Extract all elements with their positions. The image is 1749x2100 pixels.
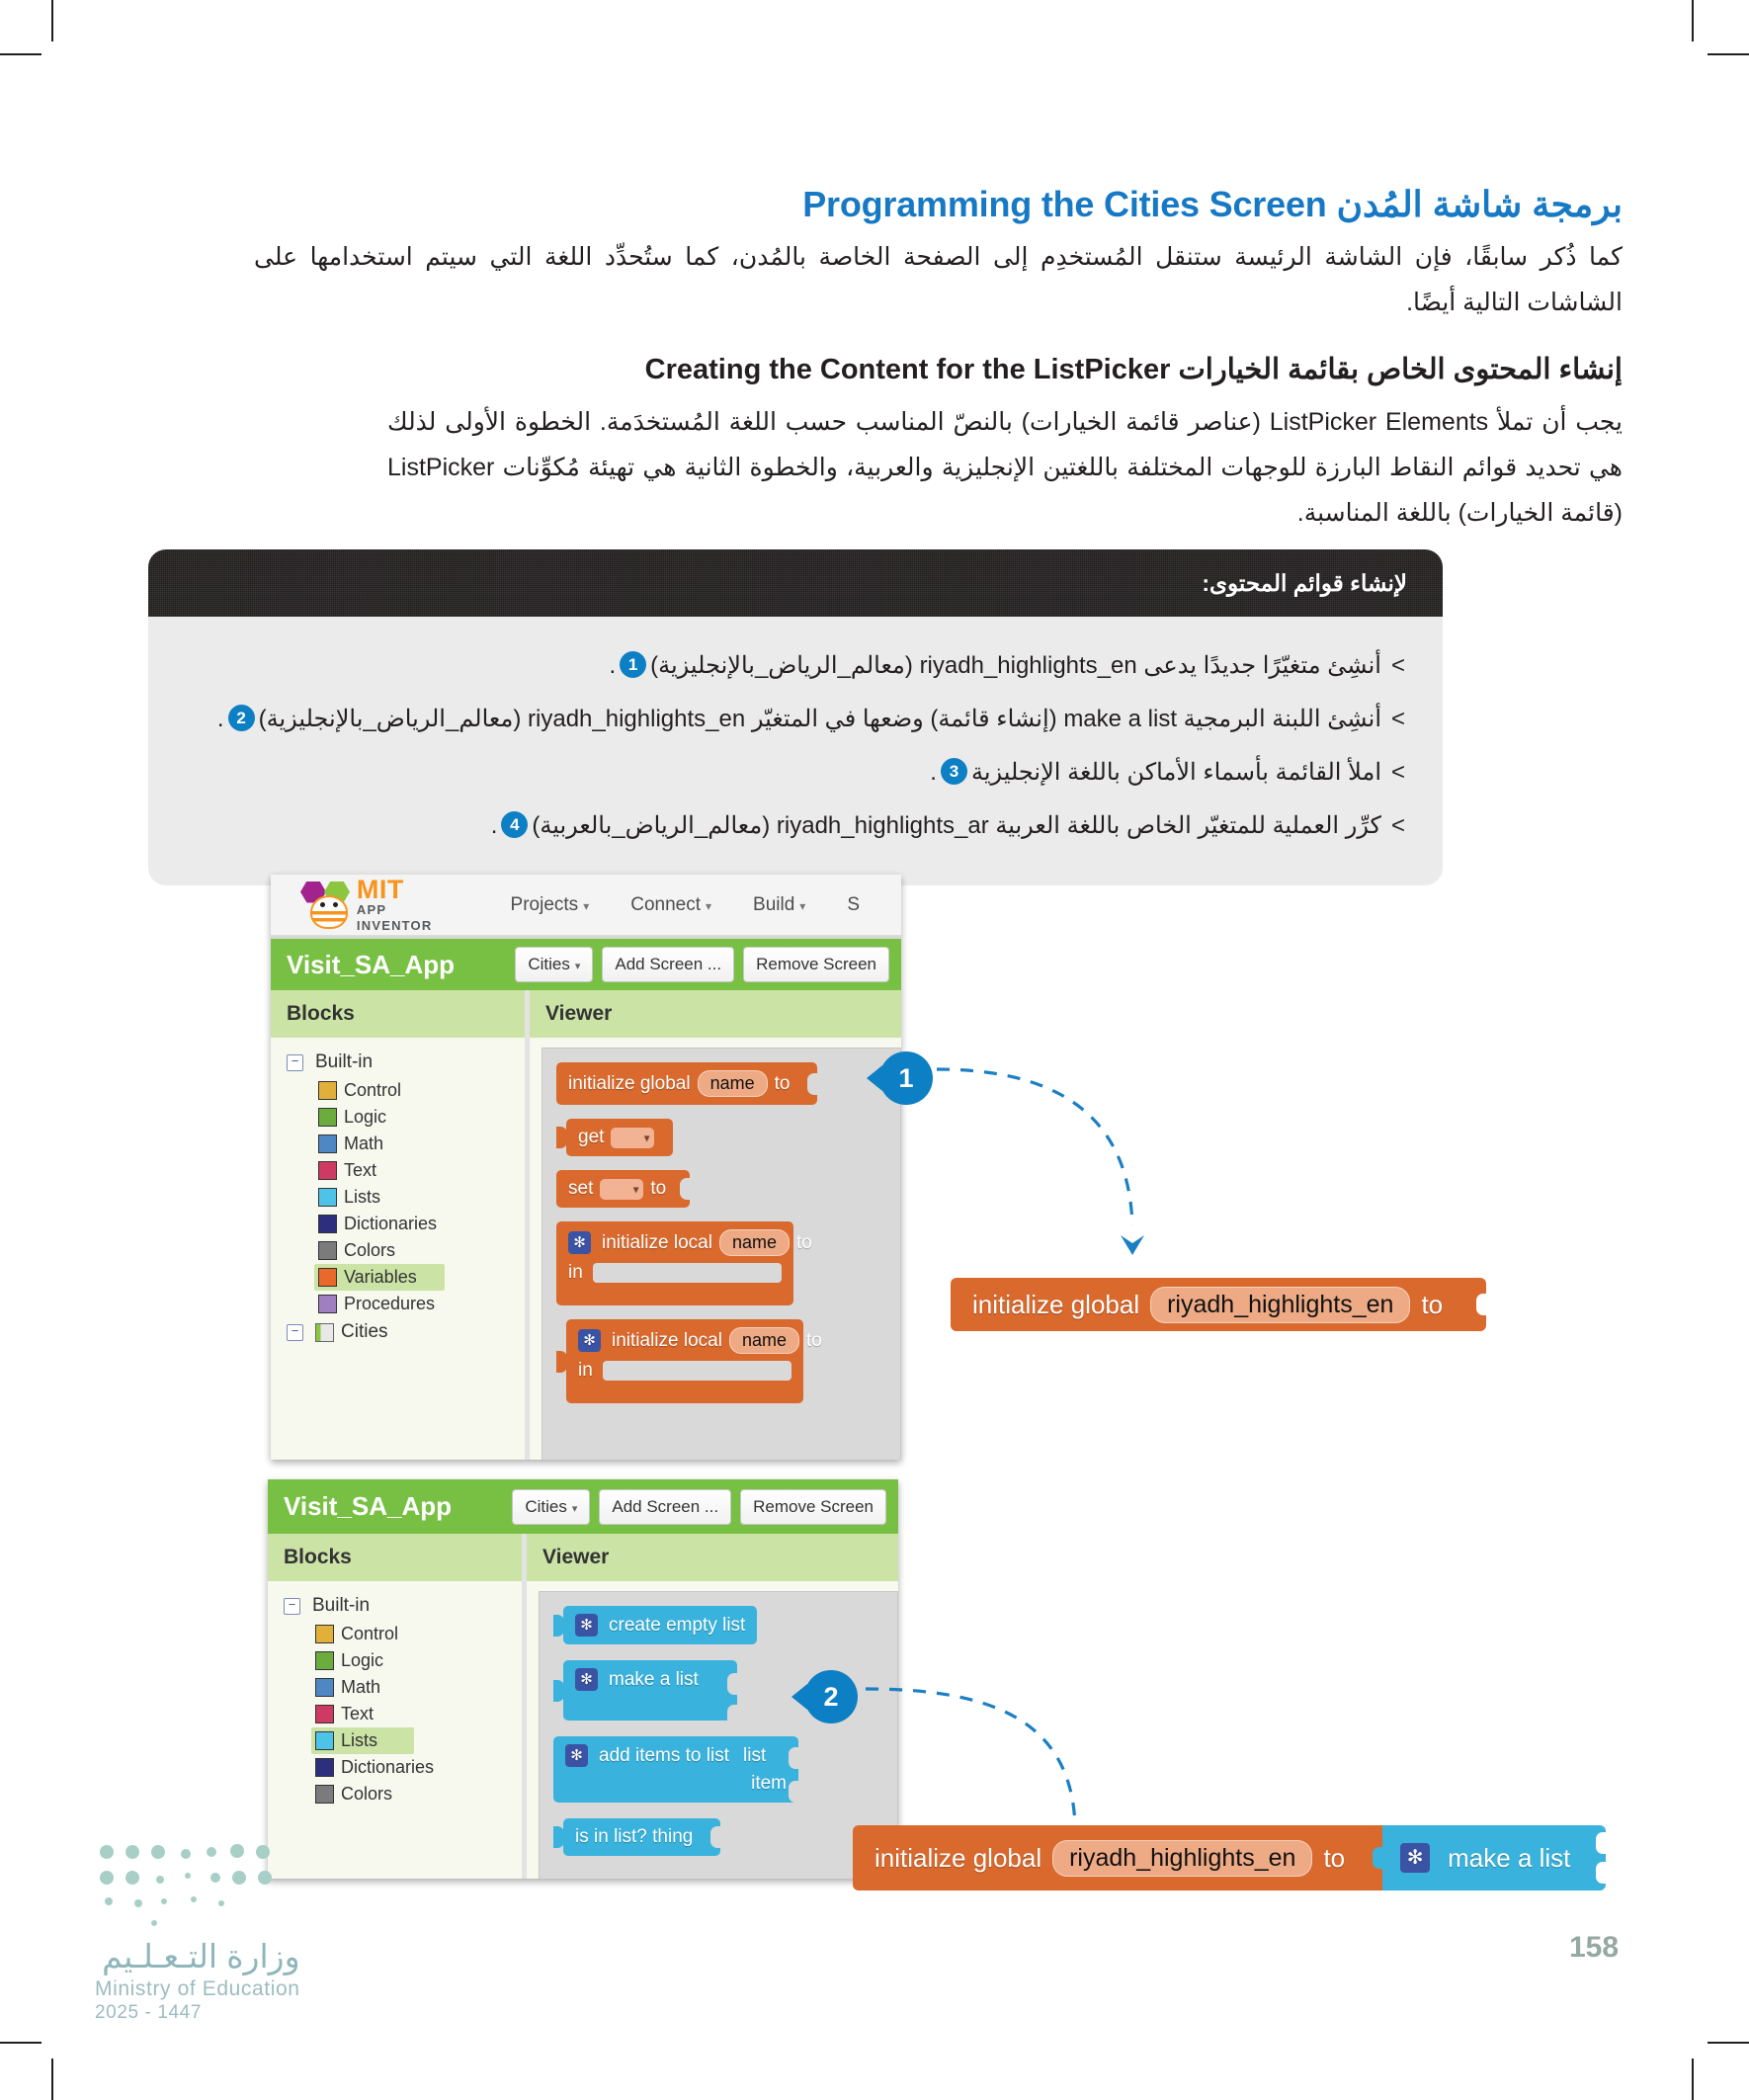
block-initialize-global[interactable]: initialize global name to [556, 1062, 817, 1105]
instruction-item-2-text: أنشِئ اللبنة البرمجية make a list (إنشاء… [186, 696, 1381, 743]
block-dropdown-variable[interactable] [611, 1128, 654, 1148]
gear-icon[interactable] [575, 1614, 598, 1637]
chevron-down-icon: ▾ [572, 1503, 578, 1515]
plug-notch [553, 1826, 564, 1848]
tree-item-dictionaries[interactable]: Dictionaries [271, 1211, 525, 1237]
crop-mark-bottom-left-v [51, 2058, 53, 2100]
project-name-1: Visit_SA_App [287, 950, 506, 980]
brand-main: MIT [357, 877, 452, 902]
tree-item-colors[interactable]: Colors [268, 1781, 522, 1807]
app-inventor-menu-1: Projects▾ Connect▾ Build▾ S [511, 894, 901, 916]
socket-notch [789, 1781, 799, 1803]
plug-notch [553, 1615, 564, 1637]
viewer-panel-title-2: Viewer [527, 1534, 898, 1581]
tree-root-cities-1[interactable]: − Cities [271, 1321, 525, 1343]
color-swatch-icon [315, 1651, 334, 1670]
instruction-item-3: > املأ القائمة بأسماء الأماكن باللغة الإ… [186, 749, 1405, 797]
section-title: إنشاء المحتوى الخاص بقائمة الخيارات Crea… [457, 352, 1623, 386]
blocks-panel-2: Blocks − Built-in Control Logic Math Tex… [268, 1534, 527, 1879]
result-block-2-variable[interactable]: riyadh_highlights_en [1052, 1840, 1312, 1877]
socket-notch [807, 1073, 818, 1095]
block-field-name[interactable]: name [698, 1070, 768, 1097]
step-badge-2: 2 [228, 705, 255, 731]
bullet-chevron-icon: > [1391, 749, 1405, 797]
ministry-name-english: Ministry of Education [95, 1977, 300, 2001]
instruction-item-1: > أنشِئ متغيّرًا جديدًا يدعى riyadh_high… [186, 642, 1405, 690]
callout-badge-1: 1 [879, 1051, 933, 1105]
ministry-name-arabic: وزارة التـعـلـيم [95, 1937, 300, 1975]
menu-connect[interactable]: Connect▾ [630, 894, 711, 916]
app-inventor-screenshot-1: MIT APP INVENTOR Projects▾ Connect▾ Buil… [271, 875, 901, 1460]
add-screen-button-2[interactable]: Add Screen ... [599, 1489, 731, 1525]
result-block-1-body[interactable]: initialize global riyadh_highlights_en t… [951, 1278, 1486, 1331]
instructions-panel: لإنشاء قوائم المحتوى: > أنشِئ متغيّرًا ج… [148, 549, 1443, 885]
step-badge-4: 4 [501, 811, 528, 838]
viewer-canvas-2[interactable]: create empty list make a list [539, 1591, 898, 1879]
blocks-tree-1: − Built-in Control Logic Math Text Lists… [271, 1038, 525, 1343]
gear-icon[interactable] [565, 1744, 588, 1767]
chevron-down-icon: ▾ [799, 899, 805, 913]
color-swatch-icon [315, 1678, 334, 1697]
instructions-panel-header: لإنشاء قوائم المحتوى: [148, 549, 1443, 617]
menu-projects[interactable]: Projects▾ [511, 894, 590, 916]
block-add-items-to-list[interactable]: add items to list list item [553, 1736, 798, 1803]
color-swatch-icon [315, 1785, 334, 1804]
tree-item-math[interactable]: Math [268, 1674, 522, 1701]
blocks-panel-title-2: Blocks [268, 1534, 522, 1581]
gear-icon[interactable] [578, 1329, 601, 1352]
crop-mark-bottom-right-h [1707, 2042, 1749, 2044]
add-screen-button-1[interactable]: Add Screen ... [602, 947, 734, 982]
tree-item-dictionaries[interactable]: Dictionaries [268, 1754, 522, 1781]
color-swatch-icon [318, 1268, 337, 1287]
chevron-down-icon: ▾ [706, 899, 711, 913]
menu-build[interactable]: Build▾ [753, 894, 805, 916]
gear-icon[interactable] [568, 1231, 591, 1254]
tree-item-logic[interactable]: Logic [268, 1647, 522, 1674]
socket-notch [680, 1178, 691, 1200]
tree-item-logic[interactable]: Logic [271, 1104, 525, 1131]
color-swatch-icon [318, 1188, 337, 1207]
intro-paragraph: كما ذُكر سابقًا، فإن الشاشة الرئيسة ستنق… [254, 234, 1623, 325]
tree-item-text[interactable]: Text [268, 1701, 522, 1727]
bee-icon [296, 882, 351, 929]
result-block-1[interactable]: initialize global riyadh_highlights_en t… [951, 1278, 1486, 1331]
instruction-item-3-text: املأ القائمة بأسماء الأماكن باللغة الإنج… [186, 749, 1381, 797]
viewer-panel-title-1: Viewer [530, 990, 901, 1038]
color-swatch-icon [315, 1731, 334, 1750]
gear-icon[interactable] [1400, 1843, 1430, 1873]
tree-item-variables[interactable]: Variables [314, 1264, 445, 1291]
tree-item-text[interactable]: Text [271, 1157, 525, 1184]
block-is-in-list[interactable]: is in list? thing [563, 1818, 720, 1856]
statement-slot[interactable] [593, 1263, 782, 1283]
mit-app-inventor-logo: MIT APP INVENTOR [296, 877, 452, 934]
plug-notch [556, 1351, 567, 1373]
color-swatch-icon [315, 1705, 334, 1723]
blocks-panel-title-1: Blocks [271, 990, 525, 1038]
block-initialize-local-1[interactable]: initialize local name to in [556, 1221, 793, 1305]
instruction-item-4-text: كرِّر العملية للمتغيّر الخاص باللغة العر… [186, 802, 1381, 850]
screen-selector-button-1[interactable]: Cities▾ [515, 947, 593, 982]
step-badge-3: 3 [941, 758, 967, 785]
block-field-name[interactable]: name [719, 1229, 790, 1256]
color-swatch-icon [318, 1081, 337, 1100]
tree-root-builtin-2[interactable]: − Built-in [268, 1595, 522, 1617]
result-block-2[interactable]: initialize global riyadh_highlights_en t… [853, 1825, 1606, 1890]
bullet-chevron-icon: > [1391, 802, 1405, 850]
tree-item-math[interactable]: Math [271, 1131, 525, 1157]
app-inventor-screenshot-2: Visit_SA_App Cities▾ Add Screen ... Remo… [268, 1479, 898, 1879]
crop-mark-top-left-h [0, 53, 42, 55]
instruction-item-4: > كرِّر العملية للمتغيّر الخاص باللغة ال… [186, 802, 1405, 850]
screen-selector-button-2[interactable]: Cities▾ [512, 1489, 590, 1525]
instructions-panel-body: > أنشِئ متغيّرًا جديدًا يدعى riyadh_high… [148, 617, 1443, 885]
block-dropdown-variable[interactable] [600, 1179, 643, 1200]
crop-mark-top-right-v [1692, 0, 1694, 42]
bullet-chevron-icon: > [1391, 696, 1405, 743]
color-swatch-icon [318, 1295, 337, 1313]
instructions-panel-title: لإنشاء قوائم المحتوى: [1202, 570, 1407, 597]
crop-mark-top-right-h [1707, 53, 1749, 55]
app-inventor-columns-1: Blocks − Built-in Control Logic Math Tex… [271, 990, 901, 1460]
plug-notch [553, 1680, 564, 1702]
menu-settings-truncated[interactable]: S [847, 894, 860, 916]
page-number: 158 [1569, 1931, 1619, 1965]
page-content: برمجة شاشة المُدن Programming the Cities… [126, 0, 1623, 2100]
remove-screen-button-2[interactable]: Remove Screen [740, 1489, 886, 1525]
ministry-logo: وزارة التـعـلـيم Ministry of Education 2… [95, 1937, 300, 2024]
statement-slot[interactable] [603, 1361, 791, 1381]
color-swatch-icon [315, 1758, 334, 1777]
blocks-tree-2: − Built-in Control Logic Math Text Lists… [268, 1581, 522, 1807]
brand-sub: APP INVENTOR [357, 902, 452, 934]
result-block-2-blue[interactable]: make a list [1382, 1825, 1606, 1890]
crop-mark-bottom-right-v [1692, 2058, 1694, 2100]
tree-item-lists[interactable]: Lists [311, 1727, 414, 1754]
dashed-arrow-1 [935, 1065, 1221, 1263]
color-swatch-icon [318, 1161, 337, 1180]
socket-notch [1476, 1294, 1487, 1315]
tree-item-lists[interactable]: Lists [271, 1184, 525, 1211]
color-swatch-icon [318, 1134, 337, 1153]
ministry-years: 2025 - 1447 [95, 2002, 300, 2024]
tree-item-control[interactable]: Control [271, 1077, 525, 1104]
socket-notch [1596, 1862, 1607, 1884]
color-swatch-icon [318, 1108, 337, 1127]
blocks-panel-1: Blocks − Built-in Control Logic Math Tex… [271, 990, 530, 1460]
collapse-icon[interactable]: − [287, 1324, 303, 1341]
block-initialize-local-2[interactable]: initialize local name to in [566, 1319, 803, 1403]
socket-notch [710, 1826, 721, 1848]
color-swatch-icon [315, 1625, 334, 1643]
block-field-name[interactable]: name [729, 1327, 799, 1354]
tree-item-procedures[interactable]: Procedures [271, 1291, 525, 1317]
decorative-dots [99, 1840, 296, 1929]
project-bar-1: Visit_SA_App Cities▾ Add Screen ... Remo… [271, 936, 901, 990]
screen-icon [315, 1323, 334, 1342]
result-block-1-variable[interactable]: riyadh_highlights_en [1150, 1287, 1410, 1323]
color-swatch-icon [318, 1241, 337, 1260]
block-make-a-list[interactable]: make a list [563, 1660, 737, 1721]
viewer-canvas-1[interactable]: initialize global name to get [541, 1048, 901, 1460]
crop-mark-top-left-v [51, 0, 53, 42]
tree-item-control[interactable]: Control [268, 1621, 522, 1647]
instruction-item-2: > أنشِئ اللبنة البرمجية make a list (إنش… [186, 696, 1405, 743]
app-inventor-topbar-1: MIT APP INVENTOR Projects▾ Connect▾ Buil… [271, 875, 901, 936]
tree-root-builtin-1[interactable]: − Built-in [271, 1051, 525, 1073]
section-paragraph: يجب أن تملأ ListPicker Elements (عناصر ق… [387, 399, 1623, 536]
chevron-down-icon: ▾ [583, 899, 589, 913]
collapse-icon[interactable]: − [284, 1598, 300, 1615]
socket-notch [727, 1673, 738, 1695]
plug-notch [556, 1127, 567, 1148]
page-title: برمجة شاشة المُدن Programming the Cities… [536, 184, 1623, 225]
color-swatch-icon [318, 1215, 337, 1233]
project-bar-2: Visit_SA_App Cities▾ Add Screen ... Remo… [268, 1479, 898, 1534]
result-block-2-orange[interactable]: initialize global riyadh_highlights_en t… [853, 1825, 1382, 1890]
chevron-down-icon: ▾ [575, 961, 581, 972]
callout-badge-2: 2 [804, 1670, 858, 1723]
socket-notch [727, 1705, 738, 1726]
block-get[interactable]: get [566, 1119, 673, 1156]
gear-icon[interactable] [575, 1668, 598, 1691]
block-create-empty-list[interactable]: create empty list [563, 1606, 757, 1644]
remove-screen-button-1[interactable]: Remove Screen [743, 947, 889, 982]
collapse-icon[interactable]: − [287, 1054, 303, 1071]
project-name-2: Visit_SA_App [284, 1491, 503, 1522]
block-set[interactable]: set to [556, 1170, 690, 1208]
viewer-panel-1: Viewer initialize global name to get [530, 990, 901, 1460]
instruction-item-1-text: أنشِئ متغيّرًا جديدًا يدعى riyadh_highli… [186, 642, 1381, 690]
step-badge-1: 1 [620, 651, 646, 678]
socket-notch [1596, 1832, 1607, 1854]
bullet-chevron-icon: > [1391, 642, 1405, 690]
socket-notch [789, 1747, 799, 1769]
crop-mark-bottom-left-h [0, 2042, 42, 2044]
tree-item-colors[interactable]: Colors [271, 1237, 525, 1264]
